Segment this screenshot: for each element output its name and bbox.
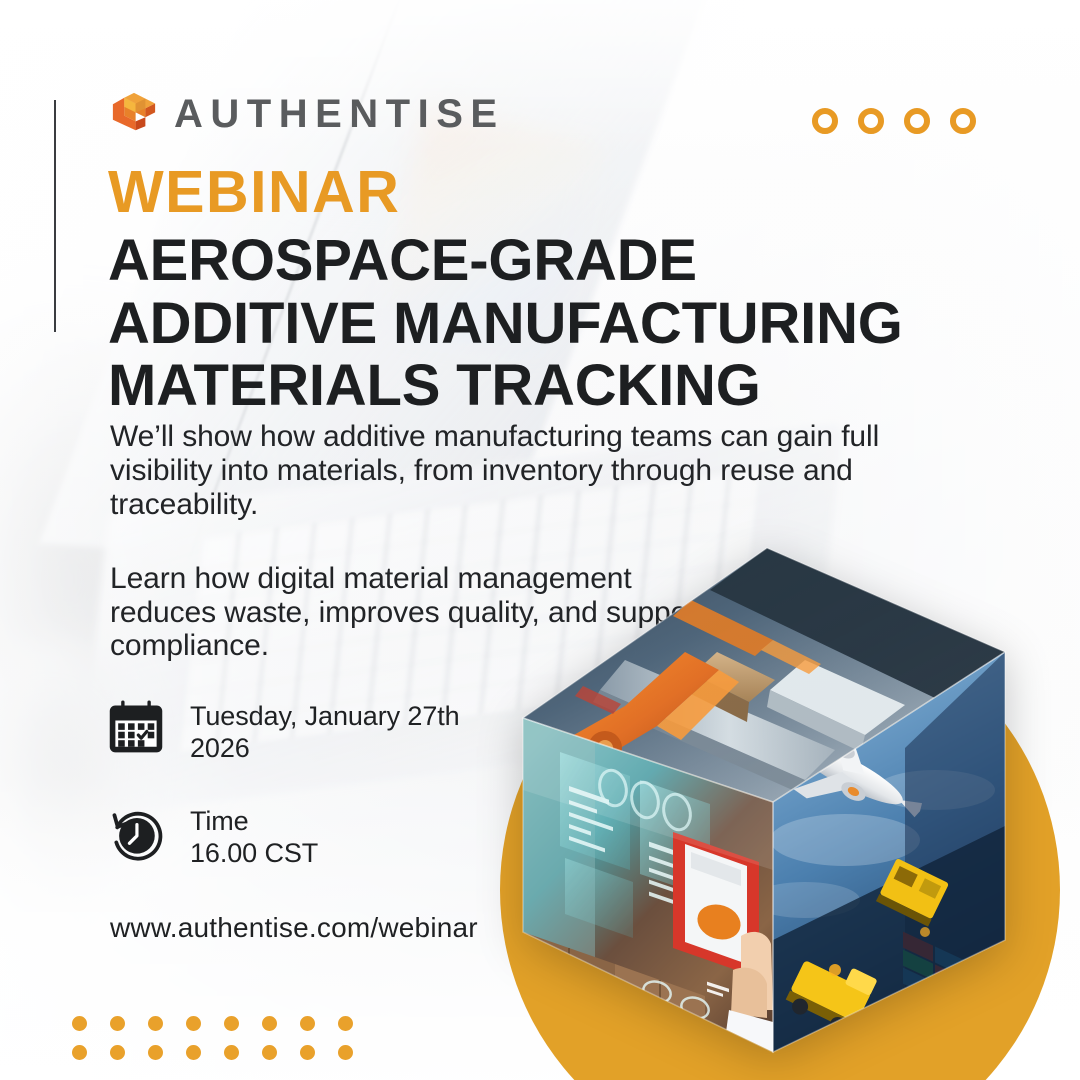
dot-icon (300, 1016, 315, 1031)
body-paragraph-1: We’ll show how additive manufacturing te… (110, 420, 940, 522)
dot-icon (110, 1045, 125, 1060)
ring-dot-icon (812, 108, 838, 134)
detail-row-date: Tuesday, January 27th 2026 (106, 698, 460, 765)
dot-icon (148, 1045, 163, 1060)
dot-icon (186, 1016, 201, 1031)
ring-dot-icon (904, 108, 930, 134)
background-coffee-cup-shadow (0, 690, 110, 840)
detail-date-line-1: Tuesday, January 27th (190, 701, 460, 733)
detail-time-line-2: 16.00 CST (190, 838, 318, 870)
dot-icon (300, 1045, 315, 1060)
detail-row-time: Time 16.00 CST (106, 803, 460, 870)
ring-dot-icon (858, 108, 884, 134)
dot-icon (262, 1045, 277, 1060)
photo-cube-illustration (505, 540, 1025, 1060)
dot-icon (72, 1045, 87, 1060)
detail-date-line-2: 2026 (190, 733, 460, 765)
dot-icon (338, 1016, 353, 1031)
decor-dot-grid (72, 1016, 376, 1060)
detail-text-date: Tuesday, January 27th 2026 (190, 698, 460, 765)
dot-icon (72, 1016, 87, 1031)
ring-dot-icon (950, 108, 976, 134)
dot-icon (224, 1045, 239, 1060)
clock-icon (106, 803, 166, 863)
title-line-2: ADDITIVE MANUFACTURING (108, 293, 1018, 356)
detail-text-time: Time 16.00 CST (190, 803, 318, 870)
dot-icon (148, 1016, 163, 1031)
title-line-1: AEROSPACE-GRADE (108, 230, 1018, 293)
brand-wordmark: AUTHENTISE (174, 94, 505, 134)
kicker-label: WEBINAR (108, 163, 1018, 222)
dot-icon (186, 1045, 201, 1060)
event-details: Tuesday, January 27th 2026 Time 16.00 CS… (106, 698, 460, 869)
calendar-icon (106, 698, 166, 758)
authentise-cube-logo-icon (108, 88, 160, 140)
dot-icon (224, 1016, 239, 1031)
headline-block: WEBINAR AEROSPACE-GRADE ADDITIVE MANUFAC… (108, 163, 1018, 418)
page-title: AEROSPACE-GRADE ADDITIVE MANUFACTURING M… (108, 230, 1018, 418)
brand-logo: AUTHENTISE (108, 88, 505, 140)
decor-rings (812, 108, 976, 134)
dot-icon (110, 1016, 125, 1031)
dot-icon (338, 1045, 353, 1060)
left-accent-rule (54, 100, 56, 332)
dot-icon (262, 1016, 277, 1031)
detail-time-line-1: Time (190, 806, 318, 838)
supply-chain-photo-cube (505, 540, 1025, 1060)
webinar-poster: AUTHENTISE WEBINAR AEROSPACE-GRADE ADDIT… (0, 0, 1080, 1080)
title-line-3: MATERIALS TRACKING (108, 355, 1018, 418)
webinar-url[interactable]: www.authentise.com/webinar (110, 912, 478, 944)
